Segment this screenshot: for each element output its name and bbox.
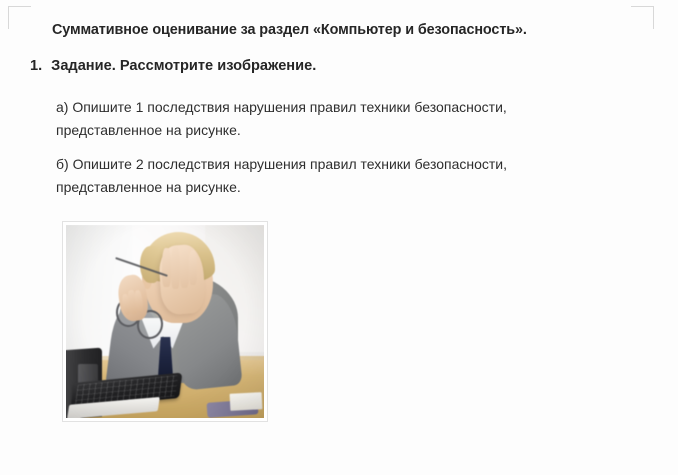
question-b-line-1: б) Опишите 2 последствия нарушения прави…: [56, 153, 634, 176]
finger-2: [171, 246, 180, 288]
question-b-line-2: представленное на рисунке.: [56, 176, 634, 199]
task-heading: Задание. Рассмотрите изображение.: [51, 58, 316, 74]
task-number: 1.: [30, 58, 42, 74]
finger-3: [180, 247, 189, 288]
figure-photo: [66, 225, 264, 418]
question-a-line-1: а) Опишите 1 последствия нарушения прави…: [56, 96, 634, 119]
boy-hair-side: [140, 246, 160, 283]
question-b: б) Опишите 2 последствия нарушения прави…: [56, 153, 634, 198]
question-a-line-2: представленное на рисунке.: [56, 119, 634, 142]
crop-mark-top-left-icon: [8, 6, 31, 29]
desk-paper: [230, 392, 263, 411]
document-page: Суммативное оценивание за раздел «Компью…: [0, 0, 678, 475]
task-heading-row: 1. Задание. Рассмотрите изображение.: [30, 58, 316, 74]
crop-mark-top-right-icon: [631, 6, 654, 29]
page-title: Суммативное оценивание за раздел «Компью…: [52, 22, 527, 38]
finger-1: [162, 248, 171, 287]
question-a: а) Опишите 1 последствия нарушения прави…: [56, 96, 634, 141]
figure-frame: [62, 221, 268, 422]
finger-4: [189, 250, 197, 285]
